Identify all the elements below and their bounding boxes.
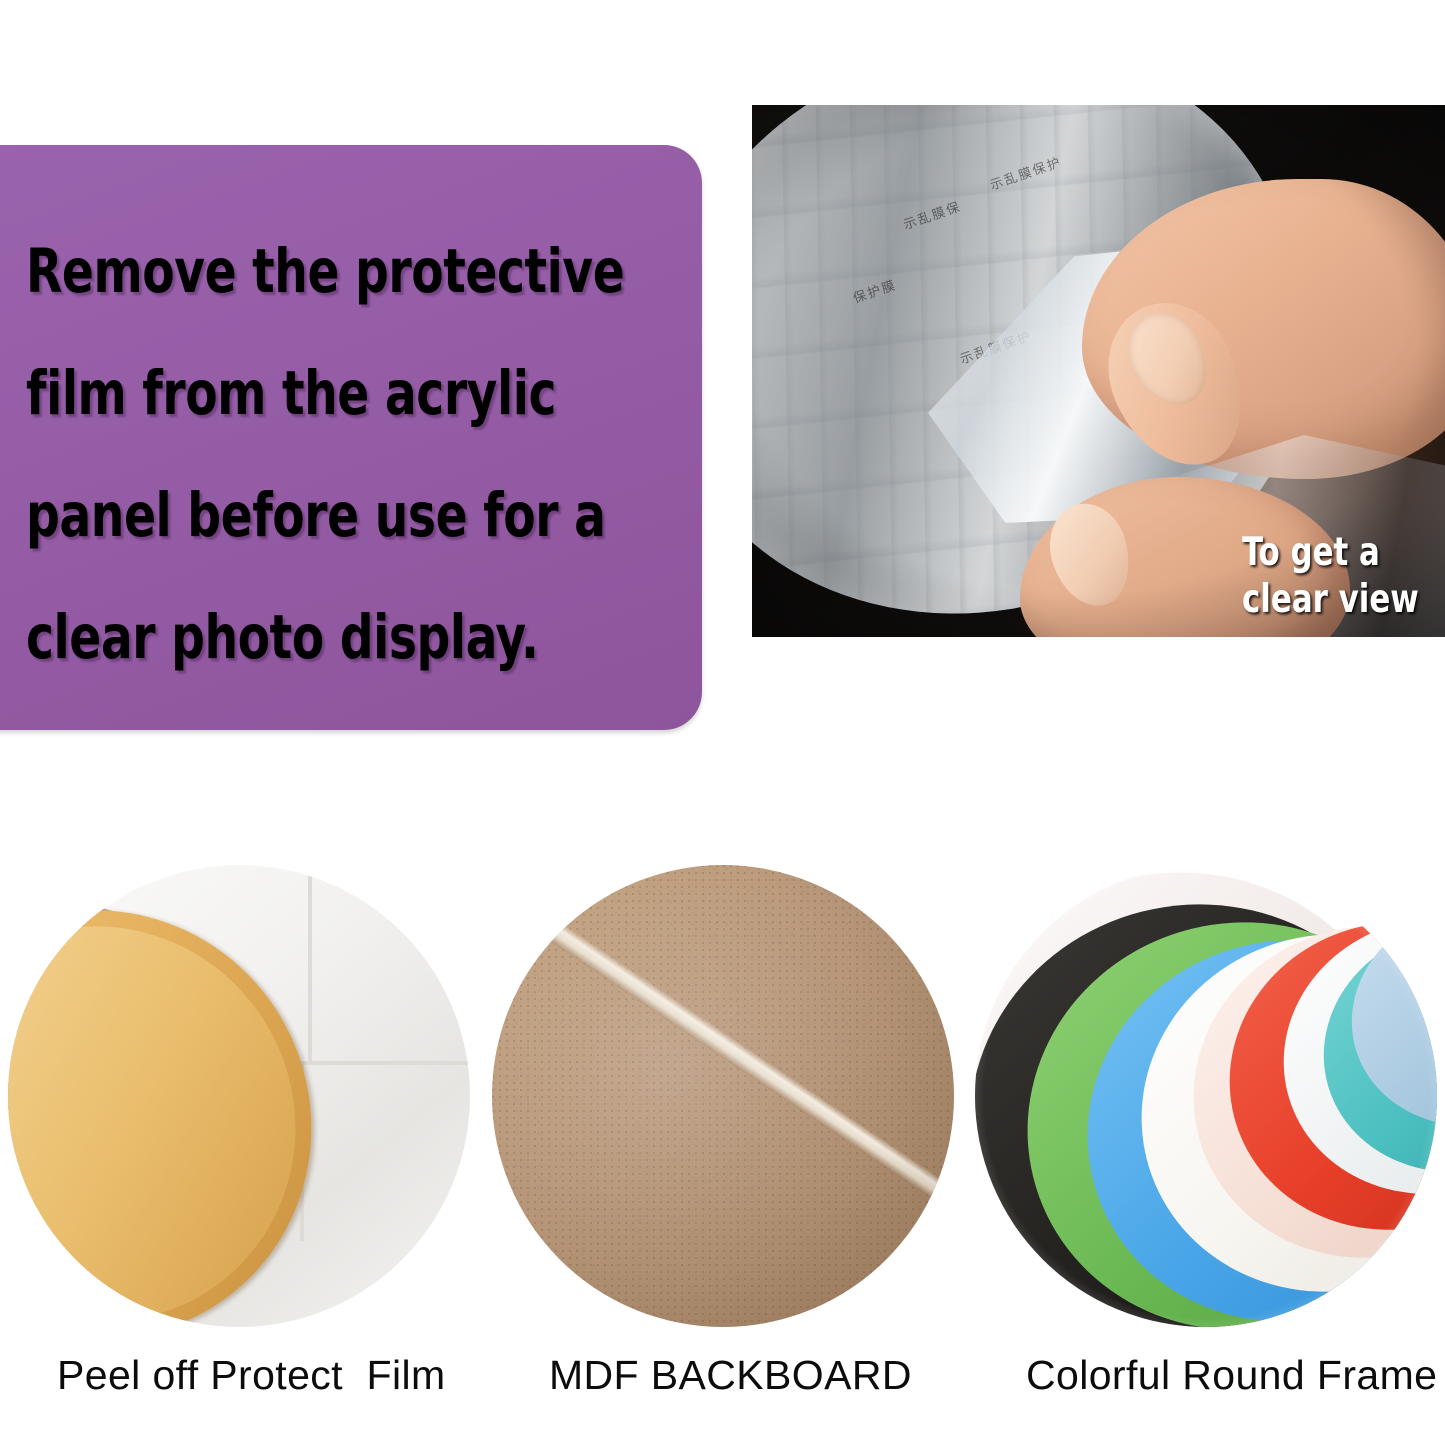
- feature-image-colorful-round-frame: [975, 865, 1437, 1327]
- mdf-board-shading: [492, 865, 954, 1327]
- frames-edge-fade: [975, 865, 1437, 1327]
- caption-colorful-round-frame: Colorful Round Frame: [1026, 1352, 1437, 1399]
- instruction-line-3: panel before use for a: [26, 455, 573, 577]
- caption-mdf-backboard: MDF BACKBOARD: [549, 1352, 912, 1399]
- instruction-line-4: clear photo display.: [26, 577, 573, 699]
- feature-image-peel-off-protect-film: 示乱膜保护 示乱膜保护 示乱膜保护 示乱膜保护: [8, 865, 470, 1327]
- photo-caption: To get a clear view: [1242, 529, 1419, 623]
- wall-seam-1: [308, 865, 312, 1065]
- caption-peel-off-protect-film: Peel off Protect Film: [57, 1352, 446, 1399]
- feature-image-mdf-backboard: [492, 865, 954, 1327]
- instruction-line-2: film from the acrylic: [26, 333, 573, 455]
- instruction-line-1: Remove the protective: [26, 211, 573, 333]
- instruction-panel: Remove the protective film from the acry…: [0, 145, 702, 730]
